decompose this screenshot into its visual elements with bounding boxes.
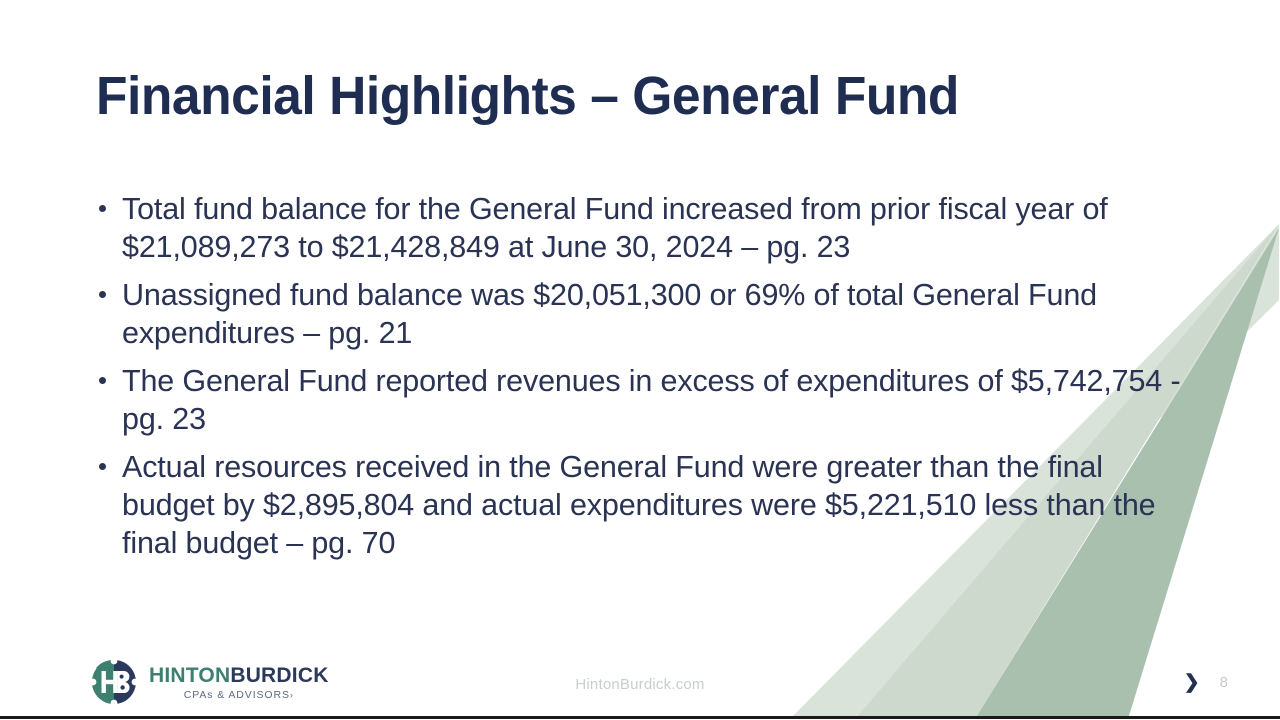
bullet-dot-icon bbox=[99, 377, 106, 384]
bullet-list: Total fund balance for the General Fund … bbox=[96, 190, 1191, 562]
bullet-dot-icon bbox=[99, 463, 106, 470]
next-arrow-icon[interactable]: ❯ bbox=[1184, 673, 1200, 692]
page-number: 8 bbox=[1220, 674, 1228, 691]
bullet-dot-icon bbox=[99, 291, 106, 298]
list-item-text: Actual resources received in the General… bbox=[122, 448, 1191, 562]
list-item: The General Fund reported revenues in ex… bbox=[96, 362, 1191, 438]
list-item: Actual resources received in the General… bbox=[96, 448, 1191, 562]
bullet-dot-icon bbox=[99, 205, 106, 212]
bottom-edge-bar bbox=[0, 716, 1280, 719]
list-item-text: The General Fund reported revenues in ex… bbox=[122, 362, 1191, 438]
slide-canvas: Financial Highlights – General Fund Tota… bbox=[0, 0, 1280, 720]
footer-page-nav: ❯ 8 bbox=[1184, 673, 1228, 692]
list-item-text: Unassigned fund balance was $20,051,300 … bbox=[122, 276, 1191, 352]
list-item: Total fund balance for the General Fund … bbox=[96, 190, 1191, 266]
page-title: Financial Highlights – General Fund bbox=[96, 68, 959, 125]
list-item: Unassigned fund balance was $20,051,300 … bbox=[96, 276, 1191, 352]
footer-website: HintonBurdick.com bbox=[0, 676, 1280, 693]
list-item-text: Total fund balance for the General Fund … bbox=[122, 190, 1191, 266]
